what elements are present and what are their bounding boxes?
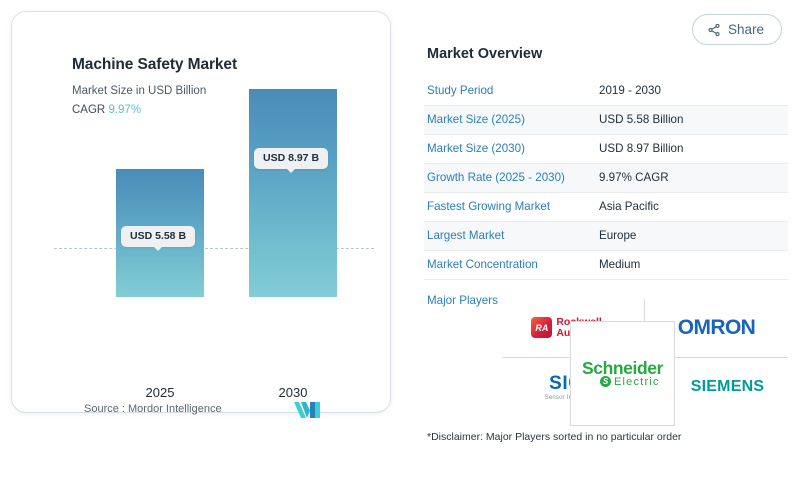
row-key: Study Period bbox=[424, 76, 596, 105]
bar-fill-2030 bbox=[249, 89, 337, 297]
row-value: 2019 - 2030 bbox=[596, 76, 788, 105]
x-axis-tick-2030: 2030 bbox=[249, 385, 337, 400]
bar-data-label-2025: USD 5.58 B bbox=[121, 226, 195, 247]
overview-title: Market Overview bbox=[424, 12, 788, 76]
disclaimer-text: *Disclaimer: Major Players sorted in no … bbox=[424, 431, 788, 443]
market-overview-panel: Market Overview Study Period 2019 - 2030… bbox=[424, 12, 788, 443]
table-row: Largest Market Europe bbox=[424, 221, 788, 250]
row-value: Europe bbox=[596, 221, 788, 250]
rockwell-badge-icon: RA bbox=[531, 317, 552, 338]
row-value: Asia Pacific bbox=[596, 192, 788, 221]
chart-card: Machine Safety Market Market Size in USD… bbox=[12, 12, 390, 412]
major-players-logo-grid: RA Rockwell Automation OMRON SICK Sensor… bbox=[502, 299, 788, 417]
logo-schneider-electric: Schneider S Electric bbox=[570, 321, 675, 426]
source-label: Source : Mordor Intelligence bbox=[84, 403, 222, 415]
omron-wordmark: OMRON bbox=[678, 316, 756, 340]
table-row: Market Size (2030) USD 8.97 Billion bbox=[424, 134, 788, 163]
bar-chart-plot: USD 5.58 B USD 8.97 B 2025 2030 bbox=[24, 24, 402, 424]
row-value: 9.97% CAGR bbox=[596, 163, 788, 192]
table-row: Market Size (2025) USD 5.58 Billion bbox=[424, 105, 788, 134]
row-value: USD 8.97 Billion bbox=[596, 134, 788, 163]
page-root: Machine Safety Market Market Size in USD… bbox=[0, 0, 800, 482]
row-key: Growth Rate (2025 - 2030) bbox=[424, 163, 596, 192]
table-row: Market Concentration Medium bbox=[424, 250, 788, 279]
row-key: Fastest Growing Market bbox=[424, 192, 596, 221]
mordor-intelligence-logo-icon bbox=[294, 401, 322, 419]
row-value: USD 5.58 Billion bbox=[596, 105, 788, 134]
schneider-mark-icon: S bbox=[600, 376, 611, 387]
schneider-line1: Schneider bbox=[582, 359, 663, 377]
x-axis-tick-2025: 2025 bbox=[116, 385, 204, 400]
bar-data-label-2030: USD 8.97 B bbox=[254, 148, 328, 169]
row-key: Market Concentration bbox=[424, 250, 596, 279]
table-row: Growth Rate (2025 - 2030) 9.97% CAGR bbox=[424, 163, 788, 192]
table-row: Study Period 2019 - 2030 bbox=[424, 76, 788, 105]
schneider-line2: Electric bbox=[614, 376, 660, 388]
siemens-wordmark: SIEMENS bbox=[691, 378, 764, 396]
row-key: Largest Market bbox=[424, 221, 596, 250]
row-key: Market Size (2025) bbox=[424, 105, 596, 134]
overview-table: Study Period 2019 - 2030 Market Size (20… bbox=[424, 76, 788, 280]
row-value: Medium bbox=[596, 250, 788, 279]
row-key: Market Size (2030) bbox=[424, 134, 596, 163]
table-row: Fastest Growing Market Asia Pacific bbox=[424, 192, 788, 221]
bar-2030[interactable] bbox=[249, 89, 337, 297]
